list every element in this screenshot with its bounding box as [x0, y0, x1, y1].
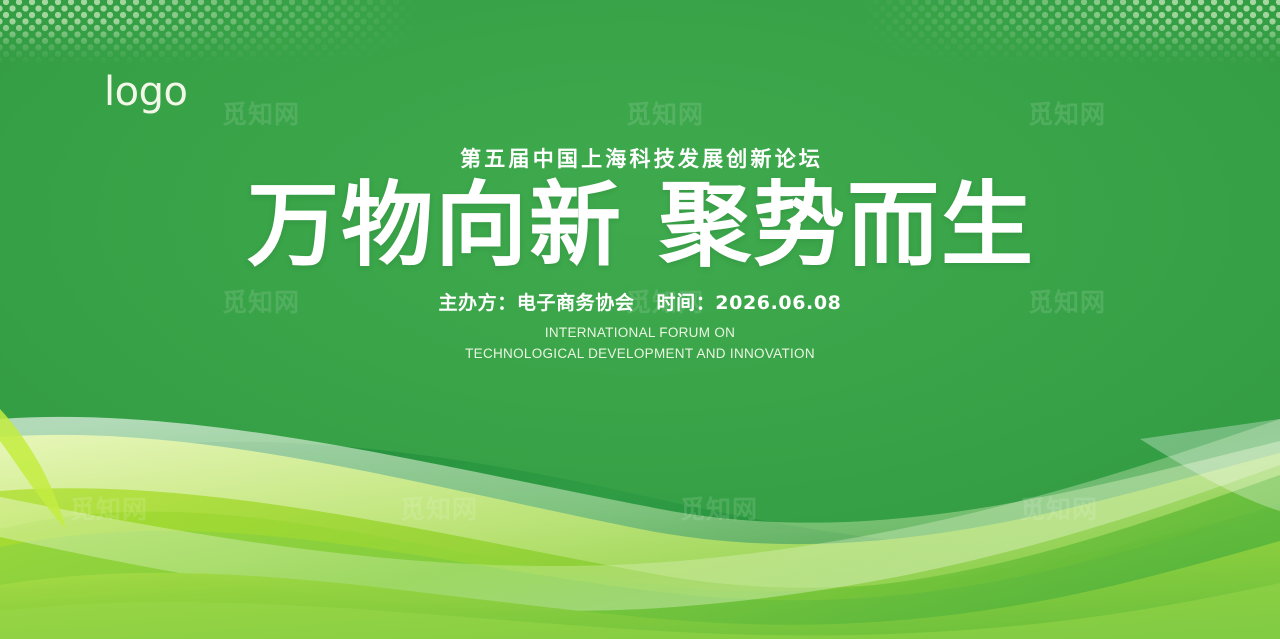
english-subtitle-line-2: TECHNOLOGICAL DEVELOPMENT AND INNOVATION: [0, 346, 1280, 361]
event-banner: 觅知网 觅知网 觅知网 觅知网 觅知网 觅知网 觅知网 觅知网 觅知网 觅知网 …: [0, 0, 1280, 639]
organizer-text: 主办方：电子商务协会: [438, 292, 634, 314]
english-subtitle-line-1: INTERNATIONAL FORUM ON: [0, 325, 1280, 340]
logo-text: logo: [104, 72, 187, 112]
banner-content: logo 第五届中国上海科技发展创新论坛 万物向新聚势而生 主办方：电子商务协会…: [0, 0, 1280, 639]
event-subtitle: 第五届中国上海科技发展创新论坛: [0, 143, 1280, 173]
headline-part-1: 万物向新: [247, 172, 623, 279]
headline: 万物向新聚势而生: [0, 178, 1280, 275]
headline-part-2: 聚势而生: [659, 172, 1035, 279]
date-text: 时间：2026.06.08: [657, 292, 842, 314]
event-meta: 主办方：电子商务协会时间：2026.06.08: [0, 288, 1280, 315]
